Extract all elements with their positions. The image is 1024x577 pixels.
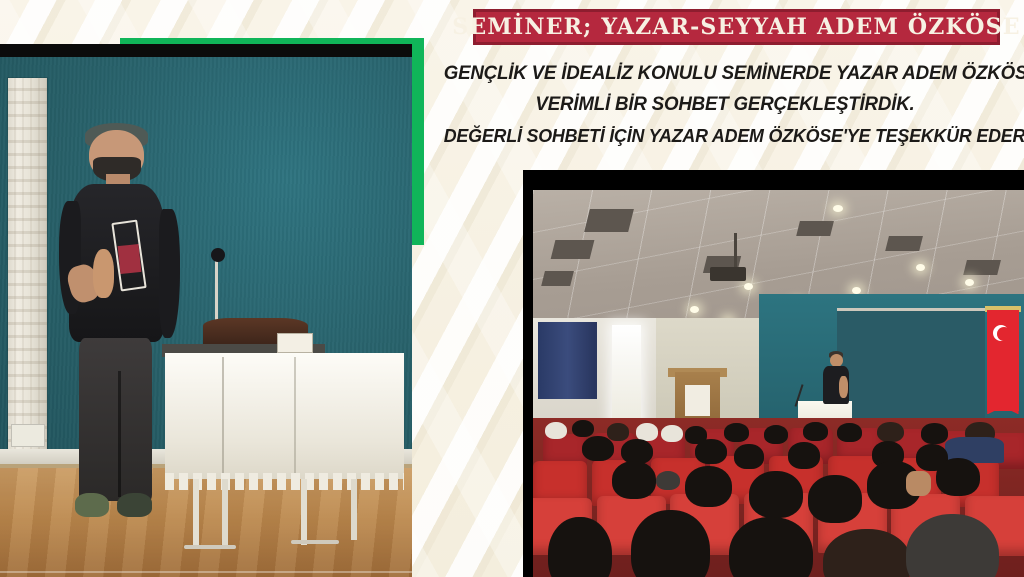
poster-root: SEMİNER; YAZAR-SEYYAH ADEM ÖZKÖSE GENÇLİ… <box>0 0 1024 577</box>
audience-head <box>921 423 948 444</box>
projector-mount <box>734 233 737 272</box>
tshirt-logo-red <box>118 244 142 274</box>
ceiling-light <box>965 279 974 286</box>
table-leg <box>193 479 199 549</box>
table-leg <box>301 479 307 545</box>
book-on-table <box>277 333 313 353</box>
speaker-trousers <box>79 338 153 500</box>
lectern-emblem <box>685 385 710 416</box>
wall-side-panel <box>8 78 47 463</box>
audience-head <box>572 420 594 437</box>
audience-head <box>607 423 629 440</box>
microphone-icon <box>211 248 225 262</box>
speaker-right-arm <box>159 209 180 339</box>
speaker-hand <box>93 249 114 298</box>
audience-head <box>724 423 749 442</box>
ceiling-light <box>916 264 925 271</box>
audience-head <box>685 466 732 507</box>
audience-face <box>906 471 931 496</box>
ceiling-light <box>744 283 753 290</box>
auditorium-photo <box>523 170 1024 577</box>
speaker-photo-content <box>0 57 412 577</box>
ceiling-vent <box>550 240 594 259</box>
blue-curtain <box>538 322 597 399</box>
audience-head <box>661 425 683 442</box>
body-text-block: GENÇLİK VE İDEALİZ KONULU SEMİNERDE YAZA… <box>432 58 1018 151</box>
ceiling-vent <box>796 221 834 236</box>
audience-head <box>656 471 681 490</box>
table-cloth <box>165 353 404 480</box>
audience-head <box>808 475 862 523</box>
cloth-fold <box>222 357 224 475</box>
speaker-left-shoe <box>75 493 109 517</box>
panel-marks <box>8 78 47 463</box>
panel-box <box>11 424 45 447</box>
ceiling-vent <box>885 236 923 251</box>
audience-head <box>695 439 727 464</box>
speaker-right-shoe <box>117 493 153 517</box>
speaker-photo <box>0 44 412 577</box>
trouser-seam <box>118 371 121 497</box>
ceiling-light <box>852 287 861 294</box>
floor-seam <box>0 571 412 573</box>
audience-head <box>582 436 614 461</box>
ceiling-vent <box>584 209 634 232</box>
audience-head <box>749 471 803 519</box>
projection-screen <box>837 308 984 424</box>
photo-frame-top-cap <box>523 170 738 190</box>
audience-head <box>837 423 862 442</box>
body-line-2: VERİMLİ BİR SOHBET GERÇEKLEŞTİRDİK. <box>444 89 1007 120</box>
title-text: SEMİNER; YAZAR-SEYYAH ADEM ÖZKÖSE <box>452 14 1020 40</box>
cloth-fold <box>294 357 296 475</box>
audience-area <box>533 418 1024 577</box>
audience-head <box>734 444 763 469</box>
audience-head <box>636 423 658 440</box>
audience-head-front <box>631 510 710 577</box>
audience-head <box>612 461 656 499</box>
audience-head <box>788 442 820 469</box>
audience-head <box>545 422 567 439</box>
audience-head <box>764 425 789 444</box>
window <box>612 325 641 426</box>
ceiling-vent <box>541 271 574 286</box>
table-foot <box>291 540 339 544</box>
stage-speaker-arm <box>839 376 848 398</box>
projector <box>710 267 746 281</box>
table-leg <box>222 479 228 549</box>
audience-head <box>936 458 980 496</box>
table-leg <box>351 479 357 540</box>
cloth-lace-edge <box>165 473 404 490</box>
table-foot <box>184 545 237 549</box>
ceiling-vent <box>963 260 1001 275</box>
cloth-table <box>165 335 404 553</box>
audience-head <box>803 422 828 441</box>
audience-head-front <box>548 517 612 577</box>
title-banner: SEMİNER; YAZAR-SEYYAH ADEM ÖZKÖSE <box>473 9 1000 45</box>
auditorium-photo-content <box>533 190 1024 577</box>
audience-head <box>877 422 904 443</box>
body-line-3: DEĞERLİ SOHBETİ İÇİN YAZAR ADEM ÖZKÖSE'Y… <box>444 120 1007 151</box>
body-line-1: GENÇLİK VE İDEALİZ KONULU SEMİNERDE YAZA… <box>444 58 1007 89</box>
